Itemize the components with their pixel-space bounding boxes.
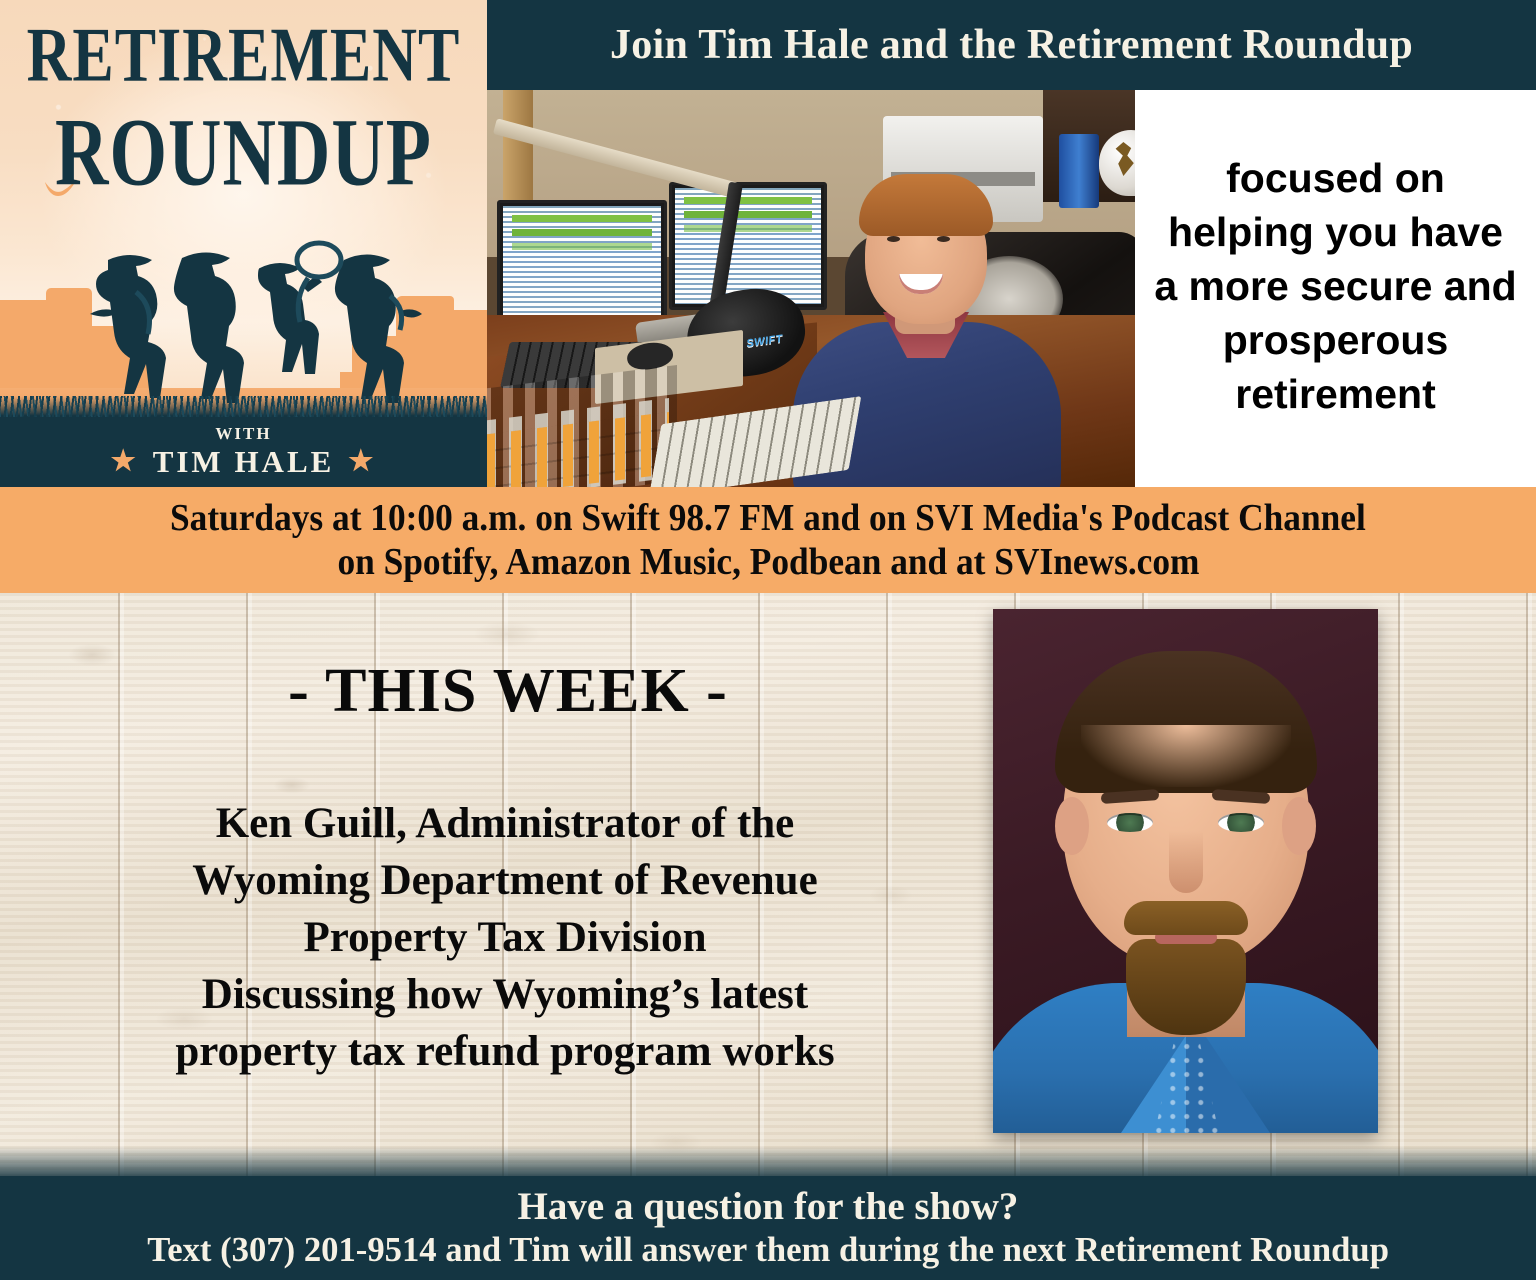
cowboy-riders-silhouette	[72, 238, 422, 406]
host-name-row: ★ TIM HALE ★	[111, 445, 377, 479]
question-footer: Have a question for the show? Text (307)…	[0, 1176, 1536, 1280]
guest-line: Discussing how Wyoming’s latest	[40, 966, 970, 1023]
logo-host-footer: WITH ★ TIM HALE ★	[0, 417, 487, 487]
guest-eye-right	[1218, 813, 1264, 832]
star-icon-right: ★	[348, 448, 376, 476]
host-name: TIM HALE	[153, 445, 335, 479]
logo-title-line1: RETIREMENT	[0, 14, 487, 97]
guest-line: Wyoming Department of Revenue	[40, 852, 970, 909]
guest-line: Ken Guill, Administrator of the	[40, 795, 970, 852]
monitor-screen	[503, 206, 661, 322]
schedule-banner: Saturdays at 10:00 a.m. on Swift 98.7 FM…	[0, 487, 1536, 593]
guest-ear-left	[1055, 797, 1089, 855]
retirement-roundup-logo-panel: RETIREMENT ROUNDUP	[0, 0, 487, 487]
schedule-line-1: Saturdays at 10:00 a.m. on Swift 98.7 FM…	[170, 496, 1366, 540]
guest-hair	[1055, 651, 1317, 793]
top-row: RETIREMENT ROUNDUP	[0, 0, 1536, 487]
logo-title-line2: ROUNDUP	[0, 104, 487, 203]
header-title: Join Tim Hale and the Retirement Roundup	[610, 21, 1413, 69]
promo-poster: RETIREMENT ROUNDUP	[0, 0, 1536, 1280]
guest-ear-right	[1282, 797, 1316, 855]
monitor-left	[497, 200, 667, 328]
footer-question: Have a question for the show?	[518, 1185, 1019, 1229]
host-eye-left	[887, 236, 900, 242]
guest-line: Property Tax Division	[40, 909, 970, 966]
guest-line: property tax refund program works	[40, 1023, 970, 1080]
tagline-panel: focused on helping you have a more secur…	[1135, 90, 1536, 487]
with-label: WITH	[215, 425, 271, 443]
logo-title: RETIREMENT ROUNDUP	[0, 14, 487, 180]
guest-headshot	[993, 609, 1378, 1133]
swift-mic-logo: SWIFT	[746, 331, 800, 354]
guest-nose	[1169, 831, 1203, 893]
guest-description: Ken Guill, Administrator of the Wyoming …	[40, 795, 970, 1080]
host-eye-right	[937, 236, 950, 242]
host-hair	[859, 174, 993, 236]
radio-studio-photo: SWIFT	[487, 90, 1135, 487]
footer-text-instructions: Text (307) 201-9514 and Tim will answer …	[147, 1229, 1389, 1271]
header-bar: Join Tim Hale and the Retirement Roundup	[487, 0, 1536, 90]
guest-mustache	[1124, 901, 1248, 935]
this-week-heading: - THIS WEEK -	[58, 658, 958, 724]
schedule-line-2: on Spotify, Amazon Music, Podbean and at…	[337, 540, 1199, 584]
guest-eye-left	[1107, 813, 1153, 832]
star-icon-left: ★	[111, 448, 139, 476]
tagline-text: focused on helping you have a more secur…	[1151, 151, 1520, 421]
